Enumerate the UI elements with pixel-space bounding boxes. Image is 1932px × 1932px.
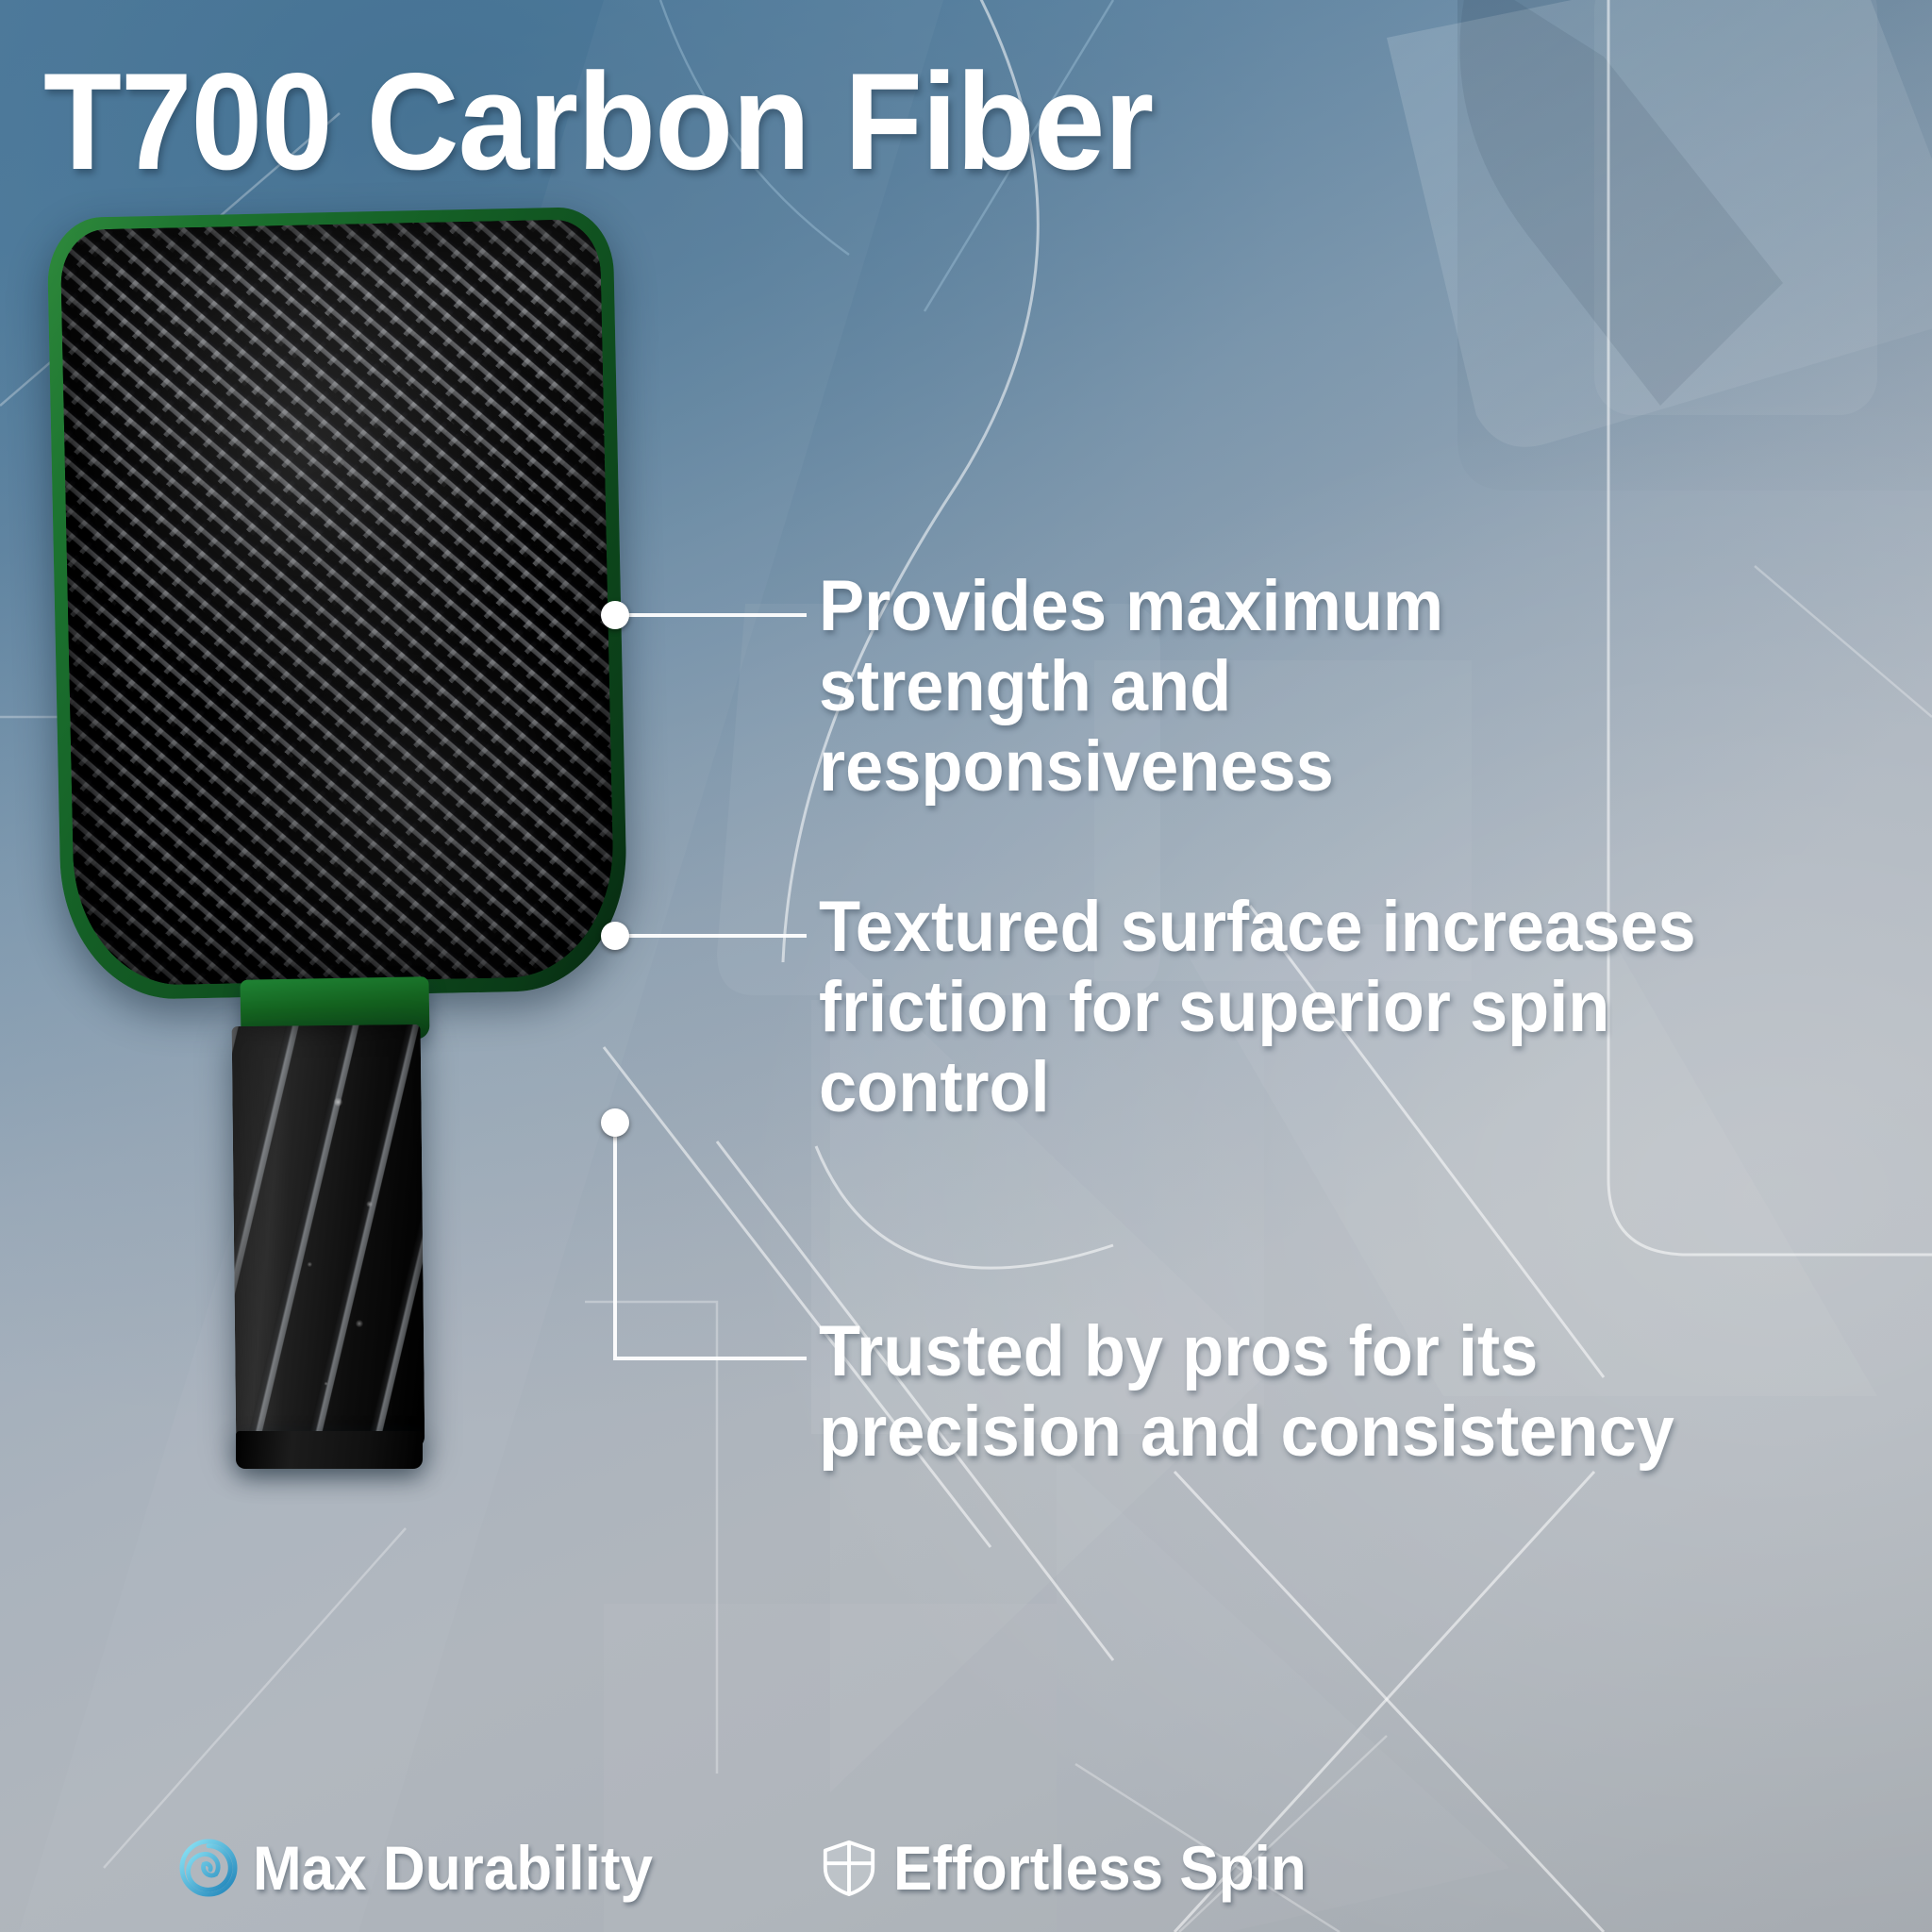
shield-icon bbox=[820, 1839, 878, 1897]
feature-text-1: Provides maximum strength and responsive… bbox=[819, 566, 1733, 807]
badge-label-effortless-spin: Effortless Spin bbox=[893, 1832, 1307, 1904]
badge-effortless-spin: Effortless Spin bbox=[820, 1832, 1333, 1904]
callout-dot-1 bbox=[601, 601, 629, 629]
spiral-icon bbox=[179, 1839, 238, 1897]
callout-dot-2 bbox=[601, 922, 629, 950]
feature-text-2: Textured surface increases friction for … bbox=[819, 887, 1733, 1127]
badge-label-max-durability: Max Durability bbox=[253, 1832, 653, 1904]
callout-dot-3 bbox=[601, 1108, 629, 1137]
infographic-canvas: T700 Carbon Fiber HYPERION Flex bbox=[0, 0, 1932, 1932]
bottom-badge-row: Max Durability Effortless Spin bbox=[179, 1832, 1333, 1904]
badge-max-durability: Max Durability bbox=[179, 1832, 678, 1904]
feature-text-3: Trusted by pros for its precision and co… bbox=[819, 1311, 1760, 1472]
